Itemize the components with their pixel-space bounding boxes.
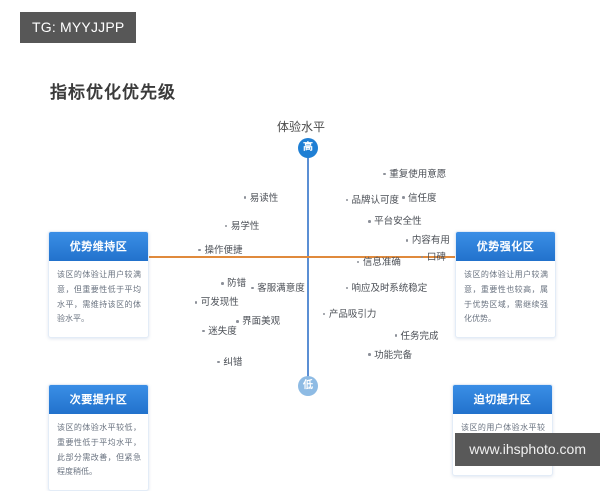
tg-badge: TG: MYYJJPP (20, 12, 136, 43)
y-axis-low-marker: 低 (298, 376, 318, 396)
quadrant-title: 迫切提升区 (453, 385, 552, 414)
scatter-point: 客服满意度 (251, 280, 305, 294)
scatter-point: 产品吸引力 (323, 306, 377, 320)
scatter-point: 功能完备 (368, 347, 412, 361)
scatter-point: 信息准确 (357, 254, 401, 268)
quadrant-title: 优势维持区 (49, 232, 148, 261)
scatter-point: 品牌认可度 (346, 192, 400, 206)
scatter-point: 纠错 (217, 354, 242, 368)
quadrant-title: 次要提升区 (49, 385, 148, 414)
scatter-point: 系统稳定 (383, 280, 427, 294)
quadrant-description: 该区的体验让用户较满意，重要性也较高，属于优势区域，需继续强化优势。 (456, 261, 555, 337)
quadrant-card-top-left[interactable]: 优势维持区 该区的体验让用户较满意，但重要性低于平均水平，需维持该区的体验水平。 (48, 231, 149, 338)
scatter-point: 操作便捷 (198, 242, 242, 256)
quadrant-card-top-right[interactable]: 优势强化区 该区的体验让用户较满意，重要性也较高，属于优势区域，需继续强化优势。 (455, 231, 556, 338)
scatter-point: 内容有用 (406, 232, 450, 246)
scatter-point: 信任度 (402, 190, 437, 204)
scatter-point: 迷失度 (202, 323, 237, 337)
scatter-point: 易学性 (225, 218, 260, 232)
scatter-point: 重复使用意愿 (383, 166, 446, 180)
scatter-point: 平台安全性 (368, 213, 422, 227)
scatter-point: 可发现性 (195, 294, 239, 308)
scatter-point: 任务完成 (395, 328, 439, 342)
scatter-point: 界面美观 (236, 313, 280, 327)
scatter-point: 防错 (221, 275, 246, 289)
y-axis-title: 体验水平 (277, 118, 325, 135)
scatter-point: 口碑 (421, 249, 446, 263)
quadrant-description: 该区的体验让用户较满意，但重要性低于平均水平，需维持该区的体验水平。 (49, 261, 148, 337)
priority-matrix-chart: 高 低 低 高 体验水平 重要性 优势维持区 该区的体验让用户较满意，但重要性低… (0, 100, 600, 410)
scatter-point: 易读性 (244, 190, 279, 204)
quadrant-card-bottom-left[interactable]: 次要提升区 该区的体验水平较低，重要性低于平均水平，此部分需改善，但紧急程度稍低… (48, 384, 149, 491)
watermark: www.ihsphoto.com (455, 433, 600, 466)
quadrant-description: 该区的体验水平较低，重要性低于平均水平，此部分需改善，但紧急程度稍低。 (49, 414, 148, 490)
quadrant-title: 优势强化区 (456, 232, 555, 261)
y-axis-high-marker: 高 (298, 138, 318, 158)
y-axis-line (307, 148, 309, 386)
